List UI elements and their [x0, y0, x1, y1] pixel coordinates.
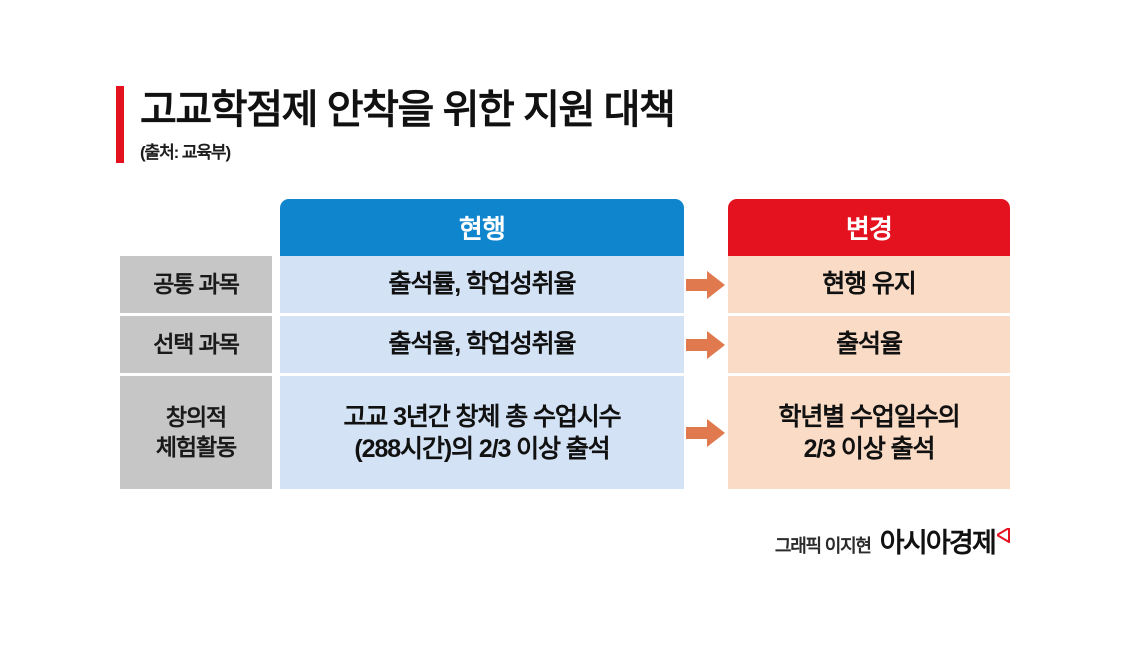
title-text-wrap: 고교학점제 안착을 위한 지원 대책 (출처: 교육부)	[140, 86, 674, 163]
column-header-changed: 변경	[728, 199, 1010, 256]
label-column-header-spacer	[120, 199, 272, 256]
cell-line-1: 고교 3년간 창체 총 수업시수	[343, 401, 620, 433]
table-column-arrows	[684, 199, 728, 489]
table-row-label-creative-activity: 창의적 체험활동	[120, 376, 272, 489]
cell-line-2: (288시간)의 2/3 이상 출석	[354, 433, 609, 465]
arrow-column-header-spacer	[684, 199, 728, 256]
label-line-1: 창의적	[166, 403, 226, 432]
cell-current-elective-subject: 출석율, 학업성취율	[280, 316, 684, 373]
brand-triangle-icon	[997, 528, 1010, 548]
page-source: (출처: 교육부)	[140, 138, 674, 163]
cell-changed-common-subject: 현행 유지	[728, 256, 1010, 313]
cell-changed-elective-subject: 출석율	[728, 316, 1010, 373]
cell-line-1: 학년별 수업일수의	[778, 401, 959, 433]
table-row-label-common-subject: 공통 과목	[120, 256, 272, 313]
title-block: 고교학점제 안착을 위한 지원 대책 (출처: 교육부)	[116, 86, 674, 163]
right-arrow-icon	[686, 270, 726, 300]
arrow-row-common-subject	[684, 256, 728, 313]
column-header-current: 현행	[280, 199, 684, 256]
infographic-page: { "header": { "title": "고교학점제 안착을 위한 지원 …	[0, 0, 1123, 650]
table-column-current: 현행 출석률, 학업성취율 출석율, 학업성취율 고교 3년간 창체 총 수업시…	[280, 199, 684, 489]
comparison-table: 공통 과목 선택 과목 창의적 체험활동 현행 출석률, 학업성취율 출석율, …	[120, 199, 1010, 504]
cell-changed-creative-activity: 학년별 수업일수의 2/3 이상 출석	[728, 376, 1010, 489]
page-title: 고교학점제 안착을 위한 지원 대책	[140, 87, 674, 133]
cell-line-2: 2/3 이상 출석	[804, 433, 935, 465]
label-line-2: 체험활동	[156, 433, 236, 462]
table-column-changed: 변경 현행 유지 출석율 학년별 수업일수의 2/3 이상 출석	[728, 199, 1010, 489]
cell-current-common-subject: 출석률, 학업성취율	[280, 256, 684, 313]
credit-line: 그래픽 이지현 아시아경제	[775, 521, 1010, 560]
table-row-label-elective-subject: 선택 과목	[120, 316, 272, 373]
right-arrow-icon	[686, 418, 726, 448]
right-arrow-icon	[686, 330, 726, 360]
credit-author: 그래픽 이지현	[775, 532, 871, 558]
credit-brand: 아시아경제	[880, 521, 995, 560]
table-column-label: 공통 과목 선택 과목 창의적 체험활동	[120, 199, 272, 489]
cell-current-creative-activity: 고교 3년간 창체 총 수업시수 (288시간)의 2/3 이상 출석	[280, 376, 684, 489]
title-accent-bar	[116, 86, 124, 163]
arrow-row-creative-activity	[684, 376, 728, 489]
arrow-row-elective-subject	[684, 316, 728, 373]
